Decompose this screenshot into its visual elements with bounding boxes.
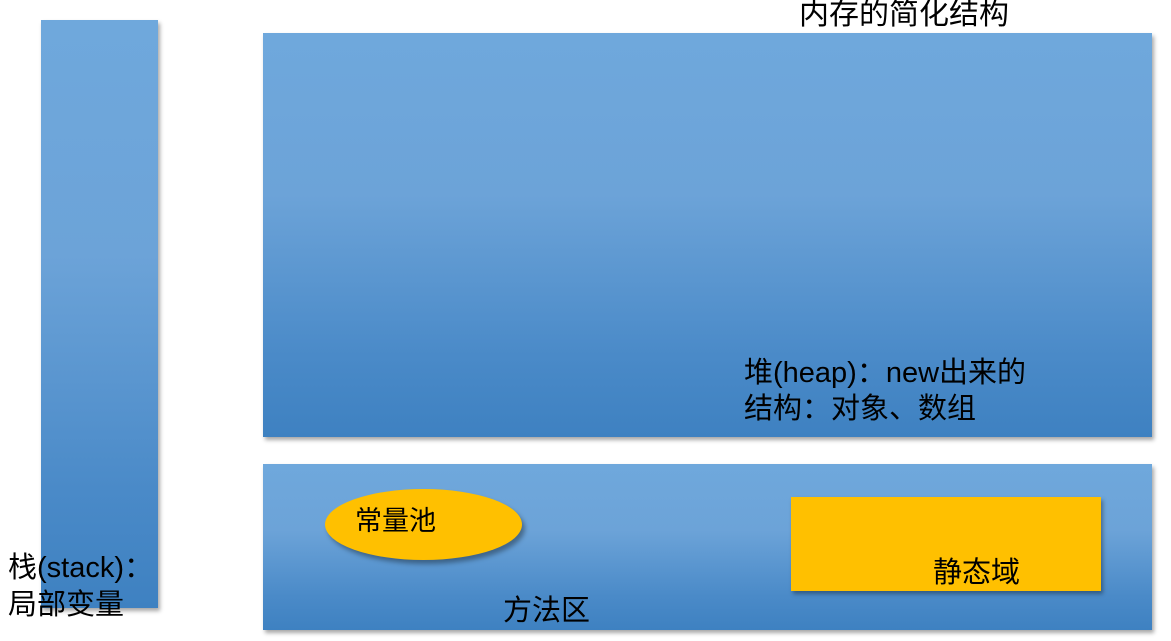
stack-label-line1: 栈(stack)： <box>8 552 153 584</box>
stack-label-line2: 局部变量 <box>8 590 153 621</box>
stack-block[interactable] <box>41 20 158 608</box>
heap-label: 堆(heap)：new出来的结构：对象、数组 <box>744 358 1026 424</box>
static-field-label: 静态域 <box>933 558 1020 589</box>
heap-label-line1: 堆(heap)：new出来的 <box>744 357 1026 389</box>
slide-canvas: 内存的简化结构 堆(heap)：new出来的结构：对象、数组 栈(stack)：… <box>0 0 1171 641</box>
method-area-label: 方法区 <box>503 596 590 627</box>
stack-label: 栈(stack)：局部变量 <box>8 553 153 620</box>
heap-label-line2: 结构：对象、数组 <box>744 394 1026 425</box>
constant-pool-label: 常量池 <box>355 507 436 536</box>
slide-title: 内存的简化结构 <box>799 0 1009 31</box>
